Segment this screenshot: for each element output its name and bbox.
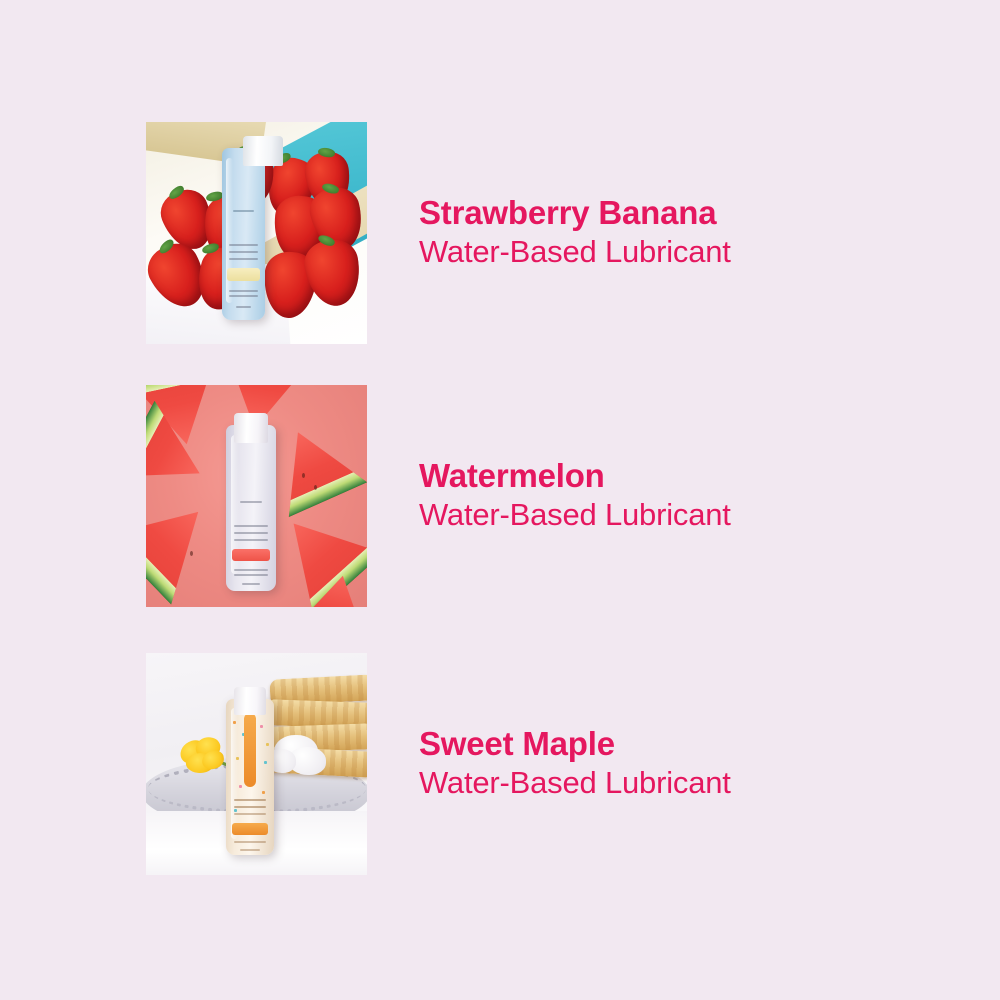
- bottle-volume-text: [236, 306, 252, 308]
- product-bottle: [226, 425, 276, 591]
- bottle-cap: [234, 687, 266, 715]
- product-label-block: Sweet Maple Water-Based Lubricant: [367, 724, 946, 803]
- bottle-brand-text: [233, 210, 254, 212]
- bottle-flavor-band: [232, 549, 270, 561]
- confetti-dot: [266, 743, 269, 746]
- bottle-volume-text: [240, 849, 259, 851]
- confetti-dot: [264, 761, 267, 764]
- product-scene: [146, 385, 367, 607]
- confetti-dot: [260, 725, 263, 728]
- bottle-label-text: [234, 799, 267, 801]
- bottle-flavor-band: [232, 823, 269, 835]
- bottle-label-text: [229, 244, 258, 246]
- bottle-cap: [234, 413, 268, 443]
- bottle-fineprint: [234, 841, 267, 843]
- bottle-label-text: [234, 813, 267, 815]
- product-subtitle: Water-Based Lubricant: [419, 233, 946, 271]
- confetti-dot: [262, 791, 265, 794]
- sweet-maple-product-photo[interactable]: [146, 653, 367, 875]
- product-scene: [146, 122, 367, 344]
- product-list: Strawberry Banana Water-Based Lubricant: [0, 0, 1000, 1000]
- bottle-orange-stripe: [244, 713, 256, 787]
- confetti-dot: [239, 785, 242, 788]
- product-name: Sweet Maple: [419, 724, 946, 764]
- bottle-label-text: [234, 539, 268, 541]
- product-subtitle: Water-Based Lubricant: [419, 496, 946, 534]
- bottle-label-text: [229, 258, 258, 260]
- bottle-highlight: [226, 158, 233, 302]
- product-label-block: Strawberry Banana Water-Based Lubricant: [367, 193, 946, 272]
- product-row[interactable]: Sweet Maple Water-Based Lubricant: [146, 653, 946, 875]
- bottle-fineprint: [229, 295, 258, 297]
- confetti-dot: [233, 721, 236, 724]
- bottle-brand-text: [240, 501, 262, 503]
- product-row[interactable]: Strawberry Banana Water-Based Lubricant: [146, 122, 946, 344]
- watermelon-product-photo[interactable]: [146, 385, 367, 607]
- product-name: Watermelon: [419, 456, 946, 496]
- confetti-dot: [236, 757, 239, 760]
- product-label-block: Watermelon Water-Based Lubricant: [367, 456, 946, 535]
- bottle-fineprint: [234, 574, 268, 576]
- watermelon-seed: [302, 473, 305, 478]
- confetti-dot: [234, 809, 237, 812]
- product-bottle: [222, 148, 265, 320]
- bottle-highlight: [231, 708, 239, 839]
- bottle-fineprint: [234, 569, 268, 571]
- bottle-label-text: [229, 251, 258, 253]
- bottle-cap: [243, 136, 283, 166]
- product-row[interactable]: Watermelon Water-Based Lubricant: [146, 385, 946, 607]
- strawberry-banana-product-photo[interactable]: [146, 122, 367, 344]
- bottle-label-text: [234, 806, 267, 808]
- product-scene: [146, 653, 367, 875]
- product-subtitle: Water-Based Lubricant: [419, 764, 946, 802]
- bottle-label-text: [234, 532, 268, 534]
- bottle-flavor-band: [227, 268, 260, 281]
- bottle-label-text: [234, 525, 268, 527]
- watermelon-seed: [314, 485, 317, 490]
- watermelon-seed: [190, 551, 193, 556]
- product-bottle: [226, 699, 274, 855]
- product-name: Strawberry Banana: [419, 193, 946, 233]
- bottle-volume-text: [242, 583, 260, 585]
- bottle-fineprint: [229, 290, 258, 292]
